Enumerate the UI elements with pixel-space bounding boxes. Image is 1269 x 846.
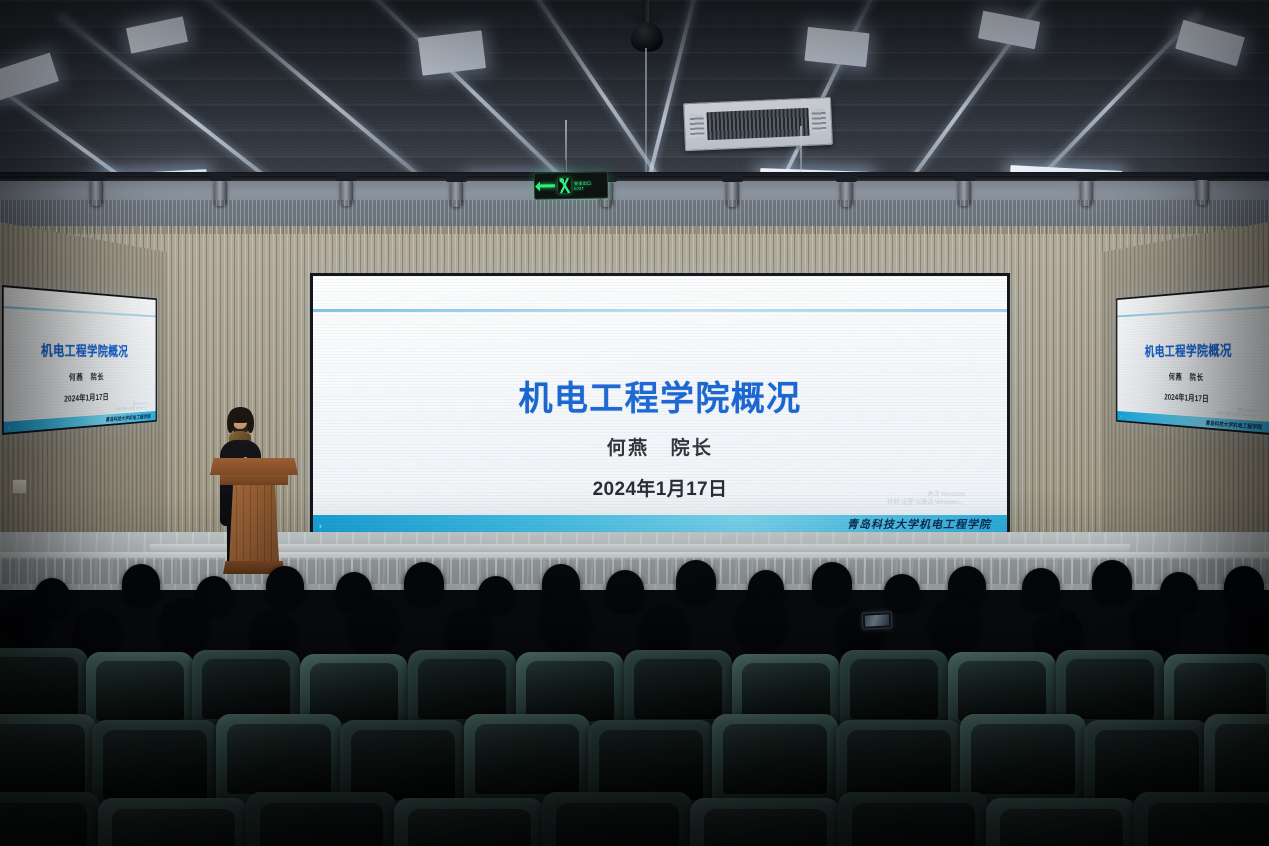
ceiling-wire	[645, 48, 647, 178]
ceiling-panel-light	[804, 27, 869, 67]
ac-vent-right	[811, 109, 826, 132]
auditorium-seat[interactable]	[1204, 714, 1269, 804]
auditorium-photo: 安全出口 EXIT 机电工程学院概况 何燕 院长 2024年1月17日 激活 W…	[0, 0, 1269, 846]
ceiling-ac-unit	[683, 97, 833, 151]
audience-head	[1130, 596, 1180, 650]
exit-arrow-icon	[539, 184, 555, 187]
podium-top	[210, 458, 298, 475]
ceiling-wire	[800, 126, 802, 178]
auditorium-seat[interactable]	[986, 798, 1136, 846]
audience-head	[736, 596, 786, 648]
auditorium-seat[interactable]	[542, 792, 692, 846]
audience-head	[676, 560, 716, 602]
audience-area	[0, 552, 1269, 846]
slide-presenter: 何燕 院长	[4, 370, 156, 385]
ac-grille	[706, 108, 809, 140]
slide-title: 机电工程学院概况	[4, 339, 156, 360]
watermark-line-2: 转到"设置"以激活 Windows。	[116, 405, 148, 411]
auditorium-seat[interactable]	[92, 720, 218, 810]
auditorium-seat[interactable]	[712, 714, 838, 804]
audience-head	[1022, 568, 1060, 608]
running-person-icon	[558, 178, 571, 193]
windows-watermark: 激活 Windows 转到"设置"以激活 Windows。	[116, 401, 148, 412]
slide-presenter: 何燕 院长	[1117, 370, 1269, 385]
wall-outlet[interactable]	[12, 479, 27, 494]
slide-date: 2024年1月17日	[1117, 389, 1269, 408]
right-side-display: 机电工程学院概况 何燕 院长 2024年1月17日 激活 Windows 转到"…	[1116, 285, 1269, 435]
audience-head	[640, 606, 688, 656]
windows-watermark: 激活 Windows 转到"设置"以激活 Windows。	[1217, 406, 1258, 418]
auditorium-seat[interactable]	[1134, 792, 1269, 846]
podium-neck	[220, 475, 288, 485]
footer-brand-label: 青岛科技大学机电工程学院	[1205, 418, 1261, 431]
audience-head	[266, 566, 304, 606]
watermark-line-1: 激活 Windows	[887, 492, 965, 500]
footer-brand-label: 青岛科技大学机电工程学院	[105, 412, 150, 423]
auditorium-seat[interactable]	[838, 792, 988, 846]
exit-label-cn: 安全出口	[574, 180, 592, 185]
slide-title: 机电工程学院概况	[313, 371, 1007, 420]
footer-brand-label: 青岛科技大学机电工程学院	[847, 516, 991, 532]
audience-head	[540, 594, 590, 648]
center-projection-screen: 机电工程学院概况 何燕 院长 2024年1月17日 激活 Windows 转到"…	[310, 273, 1010, 535]
ceiling-panel-light	[418, 30, 486, 76]
ceiling-dome-camera-icon	[631, 22, 663, 52]
audience-head	[348, 596, 398, 650]
auditorium-seat[interactable]	[690, 798, 840, 846]
windows-watermark: 激活 Windows 转到"设置"以激活 Windows。	[887, 492, 965, 507]
footer-logo-icon: ◑	[317, 521, 322, 531]
slide-title: 机电工程学院概况	[1117, 339, 1269, 360]
auditorium-seat[interactable]	[86, 652, 194, 730]
audience-head	[404, 562, 444, 604]
audience-head	[930, 598, 980, 650]
audience-head	[478, 576, 514, 612]
auditorium-seat[interactable]	[960, 714, 1086, 804]
emergency-exit-sign: 安全出口 EXIT	[534, 171, 608, 199]
watermark-line-2: 转到"设置"以激活 Windows。	[887, 500, 965, 508]
presenter-hair-right	[247, 413, 254, 433]
exit-label-en: EXIT	[574, 185, 592, 190]
auditorium-seat[interactable]	[246, 792, 396, 846]
audience-head	[160, 598, 208, 650]
audience-head	[446, 608, 492, 656]
audience-head	[884, 574, 920, 610]
left-side-display: 机电工程学院概况 何燕 院长 2024年1月17日 激活 Windows 转到"…	[2, 285, 157, 435]
slide-accent-line	[4, 306, 156, 317]
footer-logo-icon: ◑	[7, 425, 10, 431]
audience-head	[0, 596, 48, 646]
audience-head	[1226, 604, 1269, 654]
audience-head	[812, 562, 852, 604]
auditorium-seat[interactable]	[394, 798, 544, 846]
audience-head	[606, 570, 644, 610]
auditorium-seat[interactable]	[840, 650, 948, 728]
audience-head	[122, 564, 160, 604]
presenter-hair-left	[227, 413, 234, 433]
ac-vent-left	[690, 114, 705, 137]
smartphone-recording	[862, 611, 893, 630]
auditorium-seat[interactable]	[216, 714, 342, 804]
audience-head	[74, 608, 120, 656]
slide-presenter: 何燕 院长	[313, 433, 1007, 460]
auditorium-seat[interactable]	[0, 714, 96, 804]
slide-footer: ◑ 青岛科技大学机电工程学院	[313, 515, 1007, 532]
auditorium-seat[interactable]	[98, 798, 248, 846]
slide-accent-line	[313, 309, 1007, 312]
auditorium-seat[interactable]	[0, 792, 100, 846]
slide-accent-line	[1117, 306, 1269, 317]
audience-head	[1224, 566, 1264, 608]
audience-head	[1092, 560, 1132, 602]
auditorium-seat[interactable]	[464, 714, 590, 804]
auditorium-seat[interactable]	[624, 650, 732, 728]
exit-sign-label: 安全出口 EXIT	[574, 180, 592, 190]
upper-wood-trim	[0, 200, 1269, 234]
footer-logo-icon: ◑	[1120, 414, 1122, 419]
